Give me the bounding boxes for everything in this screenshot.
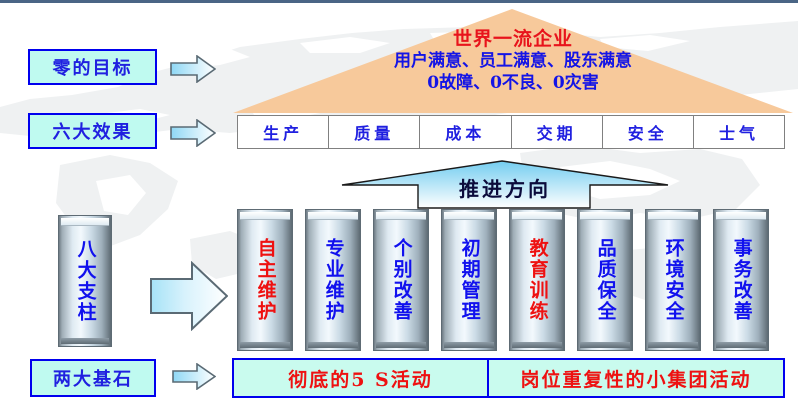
- right-arrow-icon-eight-pillars: [150, 261, 228, 331]
- label-two-foundations[interactable]: 两大基石: [30, 359, 156, 397]
- label-zero-target[interactable]: 零的目标: [28, 49, 157, 85]
- label-two-foundations-text: 两大基石: [53, 365, 133, 391]
- pillar-0[interactable]: 自主维护: [237, 209, 293, 351]
- pillar-1[interactable]: 专业维护: [305, 209, 361, 351]
- label-eight-pillars[interactable]: 八大支柱: [58, 215, 112, 347]
- right-arrow-icon-zero-target: [170, 55, 216, 83]
- pillar-5-label: 品质保全: [594, 238, 615, 322]
- pillar-2[interactable]: 个别改善: [373, 209, 429, 351]
- label-eight-pillars-text: 八大支柱: [74, 239, 95, 323]
- pillar-2-label: 个别改善: [390, 238, 411, 322]
- effect-cell-4[interactable]: 安全: [603, 116, 694, 148]
- foundation-cell-0[interactable]: 彻底的5 S活动: [234, 360, 489, 396]
- roof-triangle: [233, 9, 793, 117]
- pillar-4[interactable]: 教育训练: [509, 209, 565, 351]
- right-arrow-icon-two-foundations: [172, 363, 216, 390]
- label-six-effects[interactable]: 六大效果: [28, 113, 157, 149]
- pillar-4-label: 教育训练: [526, 238, 547, 322]
- pillar-7-label: 事务改善: [730, 238, 751, 322]
- pillar-7[interactable]: 事务改善: [713, 209, 769, 351]
- effect-cell-3[interactable]: 交期: [512, 116, 603, 148]
- pillar-6[interactable]: 环境安全: [645, 209, 701, 351]
- pillar-6-label: 环境安全: [662, 238, 683, 322]
- pillar-5[interactable]: 品质保全: [577, 209, 633, 351]
- effect-cell-0[interactable]: 生产: [238, 116, 329, 148]
- pillar-3[interactable]: 初期管理: [441, 209, 497, 351]
- effect-cell-5[interactable]: 士气: [694, 116, 784, 148]
- label-zero-target-text: 零的目标: [53, 54, 133, 80]
- foundation-cell-1[interactable]: 岗位重复性的小集团活动: [489, 360, 783, 396]
- effect-cell-2[interactable]: 成本: [420, 116, 511, 148]
- right-arrow-icon-six-effects: [170, 119, 216, 147]
- effect-cell-1[interactable]: 质量: [329, 116, 420, 148]
- foundation-row: 彻底的5 S活动 岗位重复性的小集团活动: [232, 358, 785, 398]
- pillar-0-label: 自主维护: [254, 238, 275, 322]
- six-effects-row: 生产 质量 成本 交期 安全 士气: [237, 115, 785, 149]
- pillar-1-label: 专业维护: [322, 238, 343, 322]
- up-arrow-banner: [340, 159, 670, 209]
- pillar-3-label: 初期管理: [458, 238, 479, 322]
- label-six-effects-text: 六大效果: [53, 118, 133, 144]
- tpm-house-diagram: 世界一流企业 用户满意、员工满意、股东满意 0故障、0不良、0灾害 零的目标 六…: [0, 0, 798, 407]
